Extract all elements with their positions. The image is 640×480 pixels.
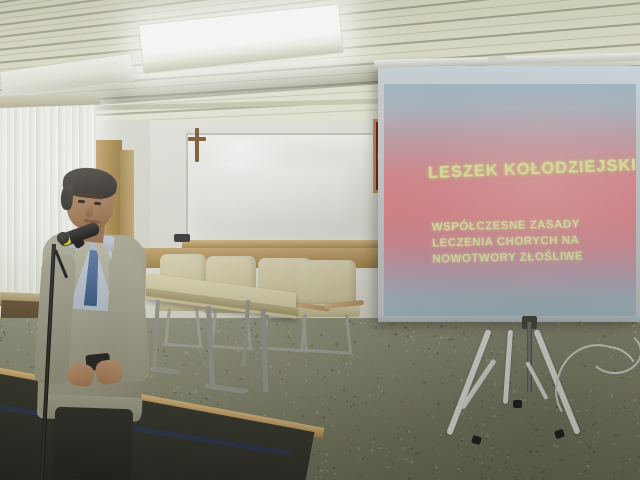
carpet-speck	[466, 423, 467, 424]
carpet-speck	[328, 409, 330, 411]
carpet-speck	[509, 420, 510, 421]
carpet-speck	[481, 433, 483, 435]
carpet-speck	[557, 328, 559, 330]
carpet-speck	[334, 398, 336, 400]
carpet-speck	[451, 375, 453, 377]
tripod-pole	[527, 322, 532, 392]
carpet-speck	[413, 331, 415, 333]
carpet-speck	[6, 361, 8, 363]
carpet-speck	[427, 326, 429, 328]
carpet-speck	[457, 444, 459, 446]
carpet-speck	[494, 383, 497, 386]
carpet-speck	[543, 465, 545, 467]
screen-case-knob	[488, 55, 506, 62]
carpet-speck	[317, 370, 319, 372]
carpet-speck	[4, 333, 7, 336]
carpet-speck	[492, 395, 495, 398]
carpet-speck	[11, 323, 12, 324]
carpet-speck	[416, 405, 417, 406]
carpet-speck	[252, 378, 253, 379]
chair	[296, 260, 356, 368]
carpet-speck	[440, 336, 443, 339]
carpet-speck	[333, 467, 335, 469]
carpet-speck	[638, 456, 640, 458]
carpet-speck	[353, 404, 355, 406]
carpet-speck	[494, 399, 495, 400]
chair-leg	[345, 314, 352, 352]
carpet-speck	[300, 404, 301, 405]
carpet-speck	[589, 328, 590, 329]
trousers	[53, 407, 133, 480]
carpet-speck	[238, 363, 239, 364]
carpet-speck	[349, 455, 350, 456]
carpet-speck	[540, 455, 541, 456]
carpet-speck	[357, 342, 359, 344]
carpet-speck	[406, 350, 408, 352]
carpet-speck	[557, 322, 560, 325]
carpet-speck	[256, 407, 257, 408]
carpet-speck	[492, 407, 494, 409]
whiteboard-eraser	[174, 234, 190, 242]
carpet-speck	[562, 322, 564, 324]
carpet-speck	[578, 441, 581, 444]
carpet-speck	[362, 330, 363, 331]
carpet-speck	[454, 350, 457, 353]
carpet-speck	[435, 380, 436, 381]
carpet-speck	[541, 445, 543, 447]
carpet-speck	[415, 440, 417, 442]
carpet-speck	[549, 397, 550, 398]
carpet-speck	[508, 412, 510, 414]
carpet-speck	[496, 354, 498, 356]
carpet-speck	[496, 450, 498, 452]
carpet-speck	[455, 326, 458, 329]
carpet-speck	[165, 355, 168, 358]
carpet-speck	[614, 443, 616, 445]
carpet-speck	[497, 420, 499, 422]
carpet-speck	[394, 333, 397, 336]
carpet-speck	[384, 343, 386, 345]
carpet-speck	[239, 378, 242, 381]
carpet-speck	[195, 360, 196, 361]
chair-leg	[164, 308, 171, 346]
carpet-speck	[392, 463, 394, 465]
carpet-speck	[597, 431, 599, 433]
carpet-speck	[414, 436, 417, 439]
carpet-speck	[312, 453, 315, 456]
wall-crucifix	[188, 128, 206, 162]
carpet-speck	[283, 414, 285, 416]
chair-skid	[298, 348, 352, 355]
carpet-speck	[486, 359, 489, 362]
carpet-speck	[588, 466, 590, 468]
carpet-speck	[385, 455, 386, 456]
carpet-speck	[386, 420, 388, 422]
carpet-speck	[506, 468, 508, 470]
carpet-speck	[235, 363, 237, 365]
carpet-speck	[388, 451, 389, 452]
carpet-speck	[532, 438, 534, 440]
carpet-speck	[418, 393, 419, 394]
carpet-speck	[637, 435, 639, 437]
carpet-speck	[411, 336, 413, 338]
carpet-speck	[584, 468, 585, 469]
carpet-speck	[443, 433, 445, 435]
carpet-speck	[447, 360, 449, 362]
carpet-speck	[362, 457, 364, 459]
carpet-speck	[572, 454, 574, 456]
carpet-speck	[255, 358, 257, 360]
carpet-speck	[515, 370, 517, 372]
carpet-speck	[397, 437, 399, 439]
carpet-speck	[332, 425, 334, 427]
carpet-speck	[360, 322, 362, 324]
carpet-speck	[582, 446, 584, 448]
carpet-speck	[388, 344, 390, 346]
carpet-speck	[358, 447, 361, 450]
carpet-speck	[343, 437, 344, 438]
carpet-speck	[317, 451, 319, 453]
carpet-speck	[322, 406, 324, 408]
carpet-speck	[523, 366, 525, 368]
chair-back	[296, 260, 356, 306]
carpet-speck	[634, 331, 637, 334]
carpet-speck	[480, 477, 483, 480]
carpet-speck	[412, 434, 414, 436]
carpet-speck	[501, 415, 503, 417]
carpet-speck	[511, 353, 513, 355]
carpet-speck	[636, 413, 638, 415]
carpet-speck	[380, 447, 382, 449]
carpet-speck	[453, 346, 455, 348]
carpet-speck	[521, 352, 523, 354]
carpet-speck	[183, 364, 185, 366]
carpet-speck	[374, 323, 376, 325]
carpet-speck	[331, 369, 334, 372]
carpet-speck	[354, 369, 355, 370]
carpet-speck	[488, 327, 489, 328]
carpet-speck	[541, 471, 544, 474]
carpet-speck	[620, 457, 622, 459]
carpet-speck	[467, 455, 469, 457]
chair-leg	[195, 308, 202, 346]
carpet-speck	[199, 363, 201, 365]
carpet-speck	[518, 469, 520, 471]
carpet-speck	[560, 459, 562, 461]
carpet-speck	[516, 440, 518, 442]
carpet-speck	[475, 330, 477, 332]
carpet-speck	[485, 438, 487, 440]
carpet-speck	[413, 340, 414, 341]
carpet-speck	[306, 421, 307, 422]
carpet-speck	[436, 352, 439, 355]
carpet-speck	[372, 361, 373, 362]
carpet-speck	[552, 384, 554, 386]
carpet-speck	[466, 336, 468, 338]
carpet-speck	[439, 455, 440, 456]
carpet-speck	[338, 370, 340, 372]
carpet-speck	[364, 438, 365, 439]
carpet-speck	[437, 402, 440, 405]
carpet-speck	[400, 438, 402, 440]
carpet-speck	[460, 379, 462, 381]
carpet-speck	[582, 430, 585, 433]
carpet-speck	[326, 453, 328, 455]
projection-sheen	[384, 84, 636, 316]
carpet-speck	[429, 370, 430, 371]
carpet-speck	[413, 363, 414, 364]
carpet-speck	[565, 420, 567, 422]
carpet-speck	[468, 351, 470, 353]
carpet-speck	[428, 414, 429, 415]
carpet-speck	[588, 446, 591, 449]
carpet-speck	[440, 325, 443, 328]
carpet-speck	[404, 326, 406, 328]
carpet-speck	[191, 391, 193, 393]
carpet-speck	[324, 376, 326, 378]
carpet-speck	[285, 392, 287, 394]
carpet-speck	[378, 373, 379, 374]
carpet-speck	[285, 394, 287, 396]
carpet-speck	[581, 450, 582, 451]
carpet-speck	[416, 351, 417, 352]
carpet-speck	[523, 416, 524, 417]
carpet-speck	[460, 440, 463, 443]
carpet-speck	[383, 397, 385, 399]
carpet-speck	[329, 396, 331, 398]
microphone-head	[57, 232, 69, 244]
carpet-speck	[629, 458, 631, 460]
photograph-scene: LESZEK KOŁODZIEJSKI WSPÓŁCZESNE ZASADY L…	[0, 0, 640, 480]
carpet-speck	[450, 411, 451, 412]
carpet-speck	[354, 388, 355, 389]
carpet-speck	[321, 462, 323, 464]
carpet-speck	[473, 458, 474, 459]
carpet-speck	[514, 476, 517, 479]
carpet-speck	[435, 466, 437, 468]
carpet-speck	[448, 460, 449, 461]
carpet-speck	[224, 394, 226, 396]
carpet-speck	[326, 470, 328, 472]
carpet-speck	[217, 377, 218, 378]
carpet-speck	[626, 451, 628, 453]
carpet-speck	[350, 406, 352, 408]
slide-subtitle: WSPÓŁCZESNE ZASADY LECZENIA CHORYCH NA N…	[432, 216, 584, 267]
carpet-speck	[461, 412, 464, 415]
carpet-speck	[493, 415, 496, 418]
carpet-speck	[293, 401, 295, 403]
carpet-speck	[194, 390, 196, 392]
carpet-speck	[448, 339, 450, 341]
carpet-speck	[482, 472, 484, 474]
carpet-speck	[541, 435, 543, 437]
carpet-speck	[501, 351, 504, 354]
carpet-speck	[536, 450, 538, 452]
carpet-speck	[364, 322, 366, 324]
carpet-speck	[281, 378, 283, 380]
carpet-speck	[407, 329, 409, 331]
carpet-speck	[422, 375, 423, 376]
carpet-speck	[459, 477, 460, 478]
carpet-speck	[553, 444, 555, 446]
carpet-speck	[593, 451, 595, 453]
carpet-speck	[387, 330, 389, 332]
carpet-speck	[392, 375, 394, 377]
carpet-speck	[587, 475, 589, 477]
carpet-speck	[545, 372, 547, 374]
carpet-speck	[513, 390, 515, 392]
carpet-speck	[535, 390, 536, 391]
carpet-speck	[200, 392, 201, 393]
carpet-speck	[359, 459, 361, 461]
carpet-speck	[482, 357, 485, 360]
carpet-speck	[410, 448, 412, 450]
carpet-speck	[544, 469, 546, 471]
carpet-speck	[441, 470, 442, 471]
carpet-speck	[199, 351, 201, 353]
carpet-speck	[317, 465, 320, 468]
carpet-speck	[467, 449, 468, 450]
carpet-speck	[490, 455, 491, 456]
carpet-speck	[620, 324, 622, 326]
carpet-speck	[500, 469, 502, 471]
carpet-speck	[165, 362, 167, 364]
carpet-speck	[173, 392, 175, 394]
carpet-speck	[417, 349, 419, 351]
carpet-speck	[217, 404, 220, 407]
carpet-speck	[322, 416, 325, 419]
carpet-speck	[369, 384, 370, 385]
carpet-speck	[512, 322, 514, 324]
carpet-speck	[301, 397, 303, 399]
carpet-speck	[204, 357, 206, 359]
carpet-speck	[334, 473, 336, 475]
carpet-speck	[0, 325, 2, 327]
chair-leg	[300, 314, 307, 352]
carpet-speck	[453, 401, 456, 404]
carpet-speck	[479, 367, 481, 369]
carpet-speck	[474, 379, 476, 381]
carpet-speck	[288, 363, 289, 364]
crucifix-horizontal	[188, 137, 206, 141]
carpet-speck	[375, 410, 377, 412]
carpet-speck	[389, 323, 390, 324]
chair-skid	[162, 343, 203, 349]
carpet-speck	[551, 413, 552, 414]
tripod-foot	[513, 400, 522, 408]
carpet-speck	[378, 395, 379, 396]
carpet-speck	[369, 333, 370, 334]
carpet-speck	[380, 373, 382, 375]
carpet-speck	[517, 474, 518, 475]
carpet-speck	[424, 354, 425, 355]
carpet-speck	[226, 369, 228, 371]
carpet-speck	[544, 363, 545, 364]
carpet-speck	[623, 328, 624, 329]
carpet-speck	[311, 393, 313, 395]
carpet-speck	[588, 461, 590, 463]
carpet-speck	[557, 349, 558, 350]
carpet-speck	[371, 449, 373, 451]
carpet-speck	[398, 427, 400, 429]
carpet-speck	[557, 445, 559, 447]
carpet-speck	[320, 469, 323, 472]
carpet-speck	[491, 352, 493, 354]
carpet-speck	[441, 378, 442, 379]
carpet-speck	[315, 476, 317, 478]
carpet-speck	[449, 378, 450, 379]
carpet-speck	[347, 374, 349, 376]
carpet-speck	[584, 470, 587, 473]
carpet-speck	[205, 363, 206, 364]
carpet-speck	[387, 466, 389, 468]
carpet-speck	[544, 407, 546, 409]
carpet-speck	[621, 445, 622, 446]
carpet-speck	[423, 381, 426, 384]
crucifix-vertical	[195, 128, 199, 162]
carpet-speck	[402, 447, 404, 449]
carpet-speck	[516, 333, 517, 334]
carpet-speck	[252, 391, 254, 393]
carpet-speck	[523, 399, 525, 401]
carpet-speck	[463, 332, 466, 335]
carpet-speck	[407, 399, 408, 400]
carpet-speck	[353, 396, 356, 399]
carpet-speck	[464, 339, 466, 341]
carpet-speck	[377, 377, 379, 379]
carpet-speck	[372, 441, 374, 443]
carpet-speck	[405, 447, 406, 448]
carpet-speck	[408, 430, 410, 432]
carpet-speck	[207, 396, 209, 398]
carpet-speck	[185, 351, 188, 354]
carpet-speck	[487, 467, 489, 469]
carpet-speck	[316, 411, 319, 414]
carpet-speck	[432, 456, 433, 457]
carpet-speck	[507, 456, 509, 458]
carpet-speck	[200, 401, 202, 403]
blind-vane	[0, 104, 7, 294]
carpet-speck	[431, 324, 432, 325]
carpet-speck	[581, 322, 582, 323]
carpet-speck	[428, 348, 430, 350]
carpet-speck	[378, 447, 380, 449]
carpet-speck	[378, 385, 380, 387]
carpet-speck	[359, 476, 361, 478]
carpet-speck	[526, 448, 527, 449]
carpet-speck	[369, 394, 371, 396]
projected-slide: LESZEK KOŁODZIEJSKI WSPÓŁCZESNE ZASADY L…	[384, 84, 636, 316]
carpet-speck	[343, 389, 345, 391]
carpet-speck	[489, 399, 491, 401]
carpet-speck	[321, 399, 323, 401]
carpet-speck	[579, 473, 581, 475]
carpet-speck	[517, 458, 518, 459]
carpet-speck	[491, 447, 492, 448]
slide-subtitle-line: NOWOTWORY ZŁOŚLIWE	[432, 248, 583, 267]
carpet-speck	[535, 397, 536, 398]
carpet-speck	[373, 403, 374, 404]
carpet-speck	[613, 472, 614, 473]
carpet-speck	[302, 415, 304, 417]
carpet-speck	[352, 415, 353, 416]
carpet-speck	[359, 330, 361, 332]
carpet-speck	[579, 461, 581, 463]
carpet-speck	[257, 376, 259, 378]
carpet-speck	[458, 468, 460, 470]
carpet-speck	[505, 464, 507, 466]
carpet-speck	[460, 454, 463, 457]
